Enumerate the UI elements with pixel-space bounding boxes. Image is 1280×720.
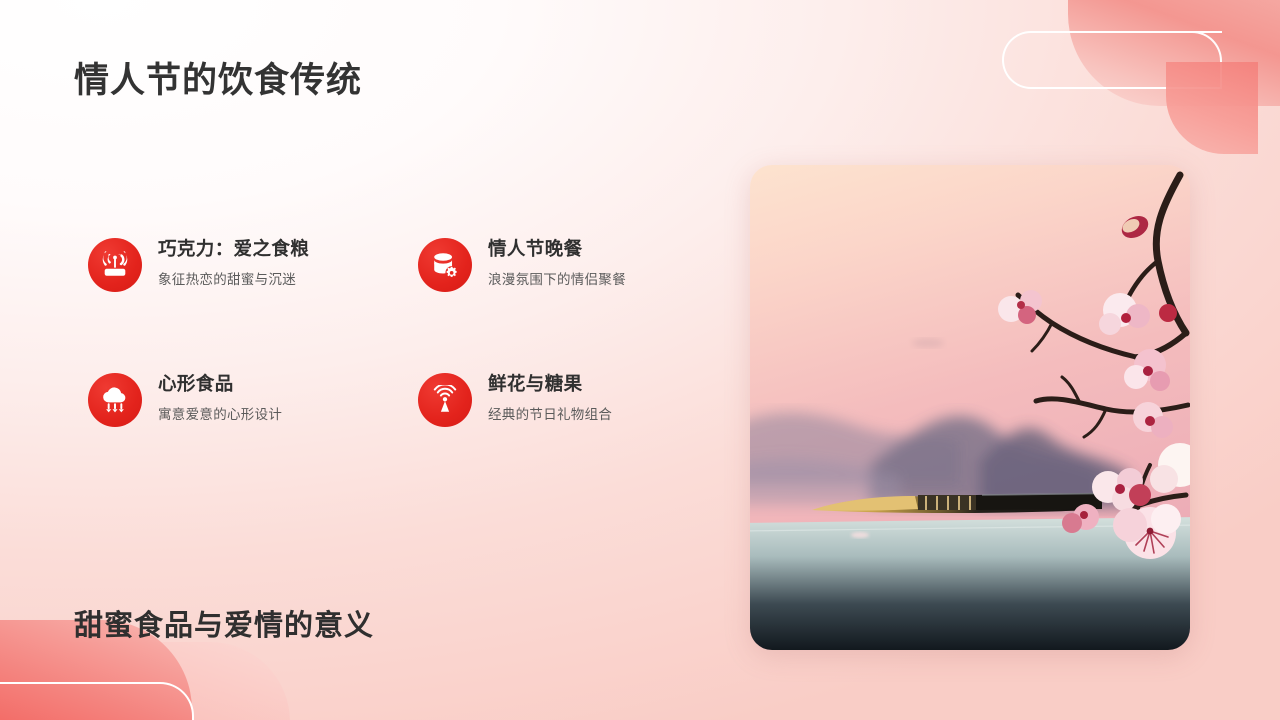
decor-top-right-large-shape <box>1068 0 1280 106</box>
decor-top-right-small-shape <box>1166 62 1258 154</box>
feature-text: 心形食品 寓意爱意的心形设计 <box>158 371 282 424</box>
feature-text: 巧克力：爱之食粮 象征热恋的甜蜜与沉迷 <box>158 236 309 289</box>
feature-item-dinner[interactable]: 情人节晚餐 浪漫氛围下的情侣聚餐 <box>418 236 718 371</box>
feature-description: 象征热恋的甜蜜与沉迷 <box>158 271 309 289</box>
broadcast-tower-icon <box>418 373 472 427</box>
decor-top-right-outline-rect-secondary <box>1070 31 1222 89</box>
page-title: 情人节的饮食传统 <box>74 52 362 103</box>
feature-description: 浪漫氛围下的情侣聚餐 <box>488 271 626 289</box>
feature-text: 情人节晚餐 浪漫氛围下的情侣聚餐 <box>488 236 626 289</box>
decor-top-right-outline-rect <box>1002 31 1222 89</box>
slide-canvas: 情人节的饮食传统 巧克力：爱之食粮 象征热恋的甜蜜与沉迷 <box>0 0 1280 720</box>
feature-item-flowers-candy[interactable]: 鲜花与糖果 经典的节日礼物组合 <box>418 371 718 506</box>
feature-title: 巧克力：爱之食粮 <box>158 238 309 260</box>
section-subtitle: 甜蜜食品与爱情的意义 <box>74 602 374 644</box>
illustration-panel <box>750 165 1190 650</box>
cloud-download-icon <box>88 373 142 427</box>
decor-bottom-left-outline-rect <box>0 682 194 720</box>
feature-description: 寓意爱意的心形设计 <box>158 406 282 424</box>
decor-bottom-left-wide-shape <box>70 642 290 720</box>
chinese-ink-scene-illustration <box>750 165 1190 650</box>
feature-title: 心形食品 <box>158 373 282 395</box>
database-settings-icon <box>418 238 472 292</box>
feature-text: 鲜花与糖果 经典的节日礼物组合 <box>488 371 612 424</box>
feature-grid: 巧克力：爱之食粮 象征热恋的甜蜜与沉迷 情人节晚餐 浪漫氛围下的情侣聚餐 <box>88 236 708 506</box>
feature-item-heart-food[interactable]: 心形食品 寓意爱意的心形设计 <box>88 371 418 506</box>
feature-title: 鲜花与糖果 <box>488 373 612 395</box>
feature-item-chocolate[interactable]: 巧克力：爱之食粮 象征热恋的甜蜜与沉迷 <box>88 236 418 371</box>
feature-title: 情人节晚餐 <box>488 238 626 260</box>
feature-description: 经典的节日礼物组合 <box>488 406 612 424</box>
wifi-router-icon <box>88 238 142 292</box>
